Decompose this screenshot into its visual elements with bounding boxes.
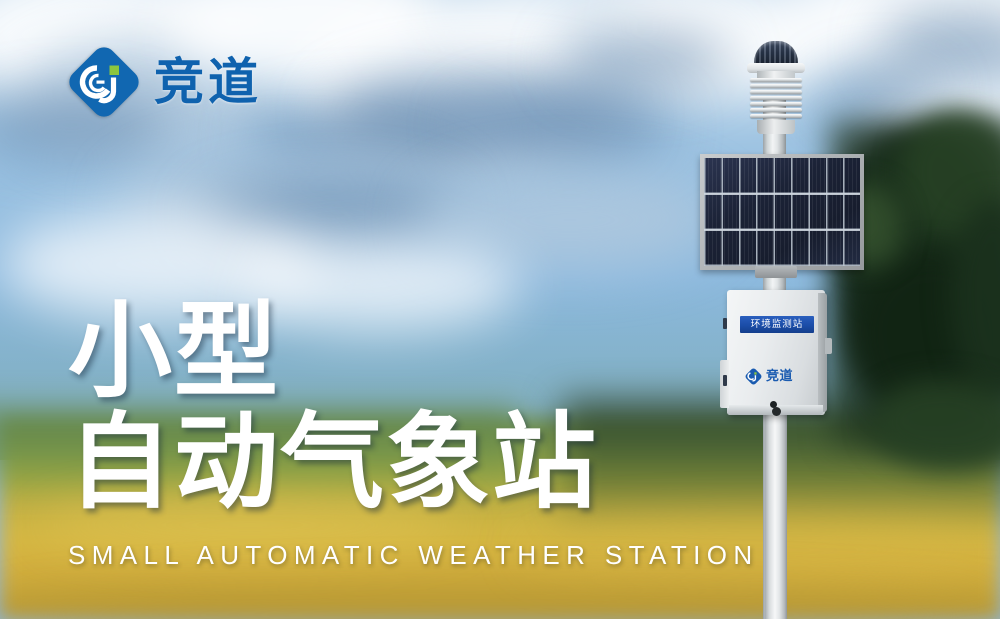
headline-line-1: 小型	[68, 296, 598, 407]
enclosure-brand-text: 竞道	[766, 370, 793, 383]
shield-fin	[750, 90, 802, 94]
subtitle-text: SMALL AUTOMATIC WEATHER STATION	[68, 540, 759, 571]
enclosure-latch	[723, 318, 727, 329]
solar-panel-busbar	[704, 229, 860, 231]
headline-block: 小型 自动气象站	[68, 296, 598, 519]
solar-panel	[700, 154, 864, 270]
monitoring-enclosure	[727, 290, 825, 415]
jingdao-monogram-icon	[66, 44, 142, 120]
sensor-base	[757, 120, 795, 134]
enclosure-connector	[825, 338, 832, 354]
jingdao-diamond-logo-icon	[66, 44, 142, 120]
radiation-shield	[750, 78, 802, 122]
headline-line-2: 自动气象站	[68, 407, 598, 518]
jingdao-diamond-logo-icon	[745, 368, 762, 385]
shield-fin	[750, 108, 802, 112]
shield-fin	[750, 84, 802, 88]
pole-screw	[772, 407, 781, 416]
enclosure-label-text: 环境监测站	[751, 320, 804, 330]
shield-fin	[750, 96, 802, 100]
support-pole-lower	[765, 400, 787, 619]
product-banner: 环境监测站 竞道	[0, 0, 1000, 619]
enclosure-latch	[723, 375, 727, 386]
shield-fin	[750, 78, 802, 82]
solar-panel-cells	[704, 158, 860, 266]
shield-fin	[750, 102, 802, 106]
brand-name-text: 竞道	[154, 57, 262, 107]
brand-logo[interactable]: 竞道	[66, 44, 262, 120]
solar-panel-busbar	[704, 193, 860, 195]
enclosure-brand-logo: 竞道	[745, 368, 793, 385]
enclosure-label-banner: 环境监测站	[740, 316, 814, 333]
shield-fin	[750, 114, 802, 118]
solar-panel-bracket	[755, 266, 797, 278]
